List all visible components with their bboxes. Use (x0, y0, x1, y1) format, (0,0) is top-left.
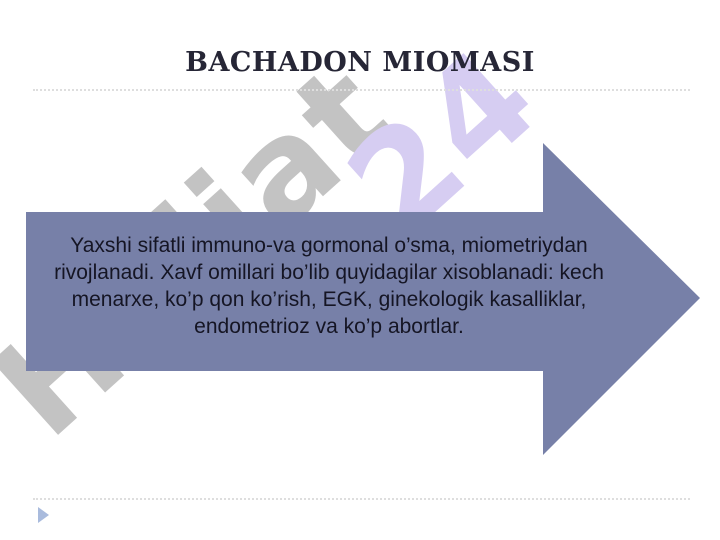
arrow-body-text: Yaxshi sifatli immuno-va gormonal o’sma,… (34, 232, 624, 340)
slide-canvas: Hujjat 24 BACHADON MIOMASI Yaxshi sifatl… (0, 0, 720, 540)
play-triangle-icon (38, 507, 49, 523)
page-title: BACHADON MIOMASI (0, 47, 720, 78)
